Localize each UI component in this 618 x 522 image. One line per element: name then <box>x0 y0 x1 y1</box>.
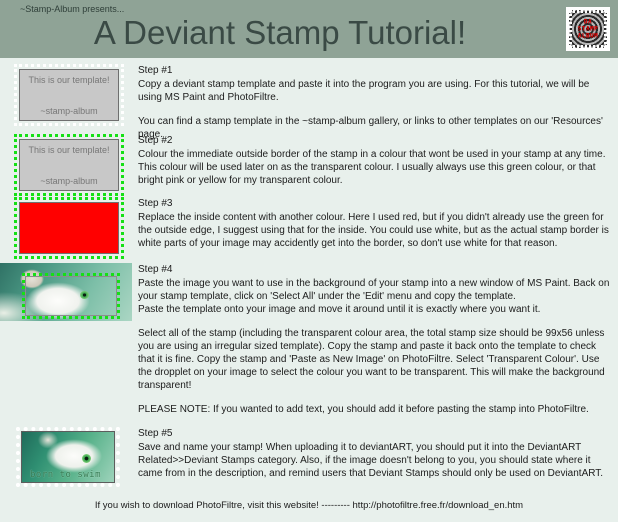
step-4-text: Step #4 Paste the image you want to use … <box>138 263 614 416</box>
perforation-border-icon <box>14 64 124 126</box>
step-4-paragraph-1: Paste the image you want to use in the b… <box>138 277 614 303</box>
da-stamp-album-logo: DA STAMP ALBUM <box>566 7 610 51</box>
step-5-text: Step #5 Save and name your stamp! When u… <box>138 427 614 480</box>
perforation-border-icon <box>16 427 120 487</box>
step-2-heading: Step #2 <box>138 134 614 147</box>
step-4-figure <box>0 263 132 321</box>
green-perforation-border-icon <box>22 273 120 319</box>
header-kicker: ~Stamp-Album presents... <box>20 4 124 14</box>
step-1-text: Step #1 Copy a deviant stamp template an… <box>138 64 614 141</box>
logo-line-3: ALBUM <box>569 33 607 40</box>
page-title: A Deviant Stamp Tutorial! <box>0 14 560 52</box>
logo-line-2: STAMP <box>569 26 607 33</box>
logo-swirl-background: DA STAMP ALBUM <box>569 10 607 48</box>
step-1-heading: Step #1 <box>138 64 614 77</box>
green-perforation-border-icon <box>14 134 124 196</box>
stamp-template-red-fill <box>14 197 124 259</box>
step-4-paragraph-3: Select all of the stamp (including the t… <box>138 327 614 392</box>
step-2-text: Step #2 Colour the immediate outside bor… <box>138 134 614 187</box>
green-perforation-border-icon <box>14 197 124 259</box>
step-4-heading: Step #4 <box>138 263 614 276</box>
step-5-heading: Step #5 <box>138 427 614 440</box>
stamp-template-plain: This is our template! ~stamp-album <box>14 64 124 126</box>
footer-note: If you wish to download PhotoFiltre, vis… <box>0 500 618 511</box>
stamp-template-green-border: This is our template! ~stamp-album <box>14 134 124 196</box>
step-3-paragraph-1: Replace the inside content with another … <box>138 211 614 250</box>
page-header: ~Stamp-Album presents... A Deviant Stamp… <box>0 0 618 58</box>
cat-photo-with-template <box>0 263 132 321</box>
step-3-heading: Step #3 <box>138 197 614 210</box>
step-5-paragraph-1: Save and name your stamp! When uploading… <box>138 441 614 480</box>
logo-line-1: DA <box>569 19 607 26</box>
step-2-figure: This is our template! ~stamp-album <box>14 134 124 196</box>
finished-stamp: born to swim <box>16 427 120 487</box>
step-1-figure: This is our template! ~stamp-album <box>14 64 124 126</box>
step-1-paragraph-1: Copy a deviant stamp template and paste … <box>138 78 614 104</box>
step-3-text: Step #3 Replace the inside content with … <box>138 197 614 250</box>
step-3-figure <box>14 197 124 259</box>
step-5-figure: born to swim <box>16 427 120 487</box>
step-4-paragraph-4: PLEASE NOTE: If you wanted to add text, … <box>138 403 614 416</box>
logo-text: DA STAMP ALBUM <box>569 19 607 40</box>
step-2-paragraph-1: Colour the immediate outside border of t… <box>138 148 614 187</box>
step-4-paragraph-2: Paste the template onto your image and m… <box>138 303 614 316</box>
